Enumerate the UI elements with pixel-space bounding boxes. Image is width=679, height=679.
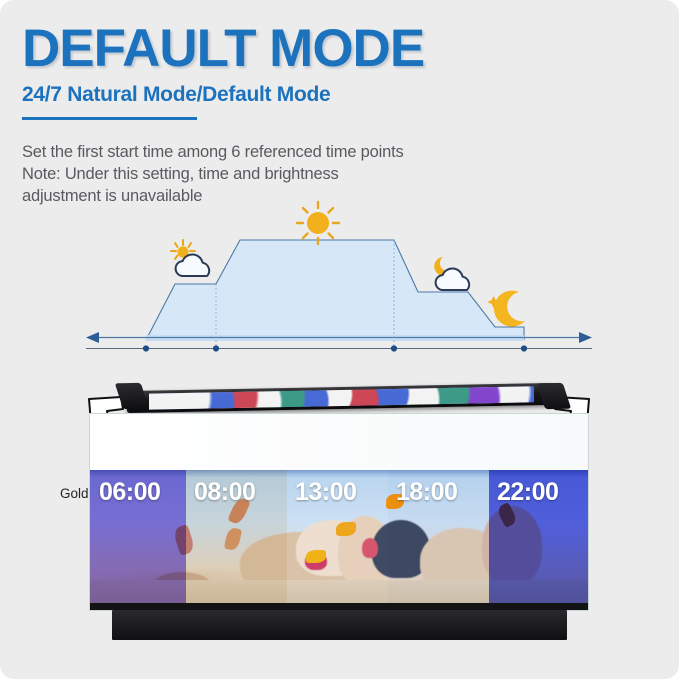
light-schedule-chart: Gold yellow light White light Blue light… [0, 196, 679, 372]
sun-behind-cloud-icon [166, 238, 228, 284]
aquarium-product-photo: 06:00 08:00 13:00 18:00 22:00 [79, 379, 600, 642]
sun-icon [295, 200, 341, 246]
page-title: DEFAULT MODE [22, 22, 662, 75]
zone-label-1800: 18:00 [396, 478, 457, 507]
title-underline-rule [22, 117, 197, 120]
description-line-2: Note: Under this setting, time and brigh… [22, 164, 642, 186]
product-infographic-page: DEFAULT MODE 24/7 Natural Mode/Default M… [0, 0, 679, 679]
zone-label-1300: 13:00 [295, 478, 356, 507]
axis-arrow-right-icon [579, 332, 592, 343]
aquarium-tank: 06:00 08:00 13:00 18:00 22:00 [89, 413, 589, 611]
tank-bottom-frame [90, 603, 588, 610]
tick-dot-0600 [143, 345, 149, 351]
axis-arrow-left-icon [86, 332, 99, 343]
zone-label-0800: 08:00 [194, 478, 255, 507]
crescent-moon-icon [483, 286, 539, 334]
moon-behind-cloud-icon [424, 253, 486, 299]
led-light-bar [127, 383, 554, 413]
description-line-1: Set the first start time among 6 referen… [22, 142, 642, 164]
tick-dot-1800 [391, 345, 397, 351]
led-diodes [149, 386, 534, 409]
zone-label-0600: 06:00 [99, 478, 160, 507]
header: DEFAULT MODE 24/7 Natural Mode/Default M… [22, 22, 662, 120]
aquarium-stand [112, 610, 567, 640]
zone-label-2200: 22:00 [497, 478, 558, 507]
tank-upper-glass [90, 414, 588, 470]
tick-dot-0800 [213, 345, 219, 351]
page-subtitle: 24/7 Natural Mode/Default Mode [22, 83, 662, 107]
tick-dot-end [521, 345, 527, 351]
tank-water-area: 06:00 08:00 13:00 18:00 22:00 [90, 470, 588, 610]
